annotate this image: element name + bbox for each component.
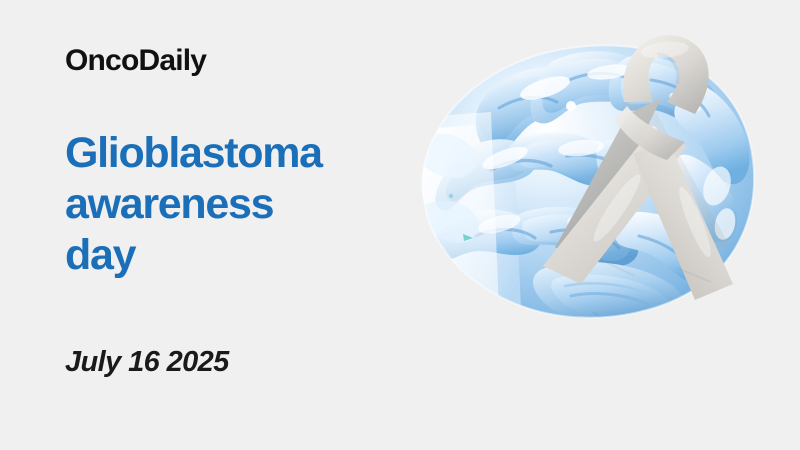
brain-ribbon-artwork <box>395 10 790 430</box>
headline-line-3: day <box>65 230 415 281</box>
poster-canvas: OncoDaily Glioblastoma awareness day Jul… <box>0 0 800 450</box>
event-date: July 16 2025 <box>65 348 229 377</box>
headline-line-2: awareness <box>65 179 415 230</box>
brain-illustration-icon <box>395 10 790 430</box>
page-title: Glioblastoma awareness day <box>65 128 415 281</box>
text-column: OncoDaily Glioblastoma awareness day Jul… <box>65 0 425 450</box>
brand-logo-text: OncoDaily <box>65 46 206 76</box>
headline-line-1: Glioblastoma <box>65 128 415 179</box>
